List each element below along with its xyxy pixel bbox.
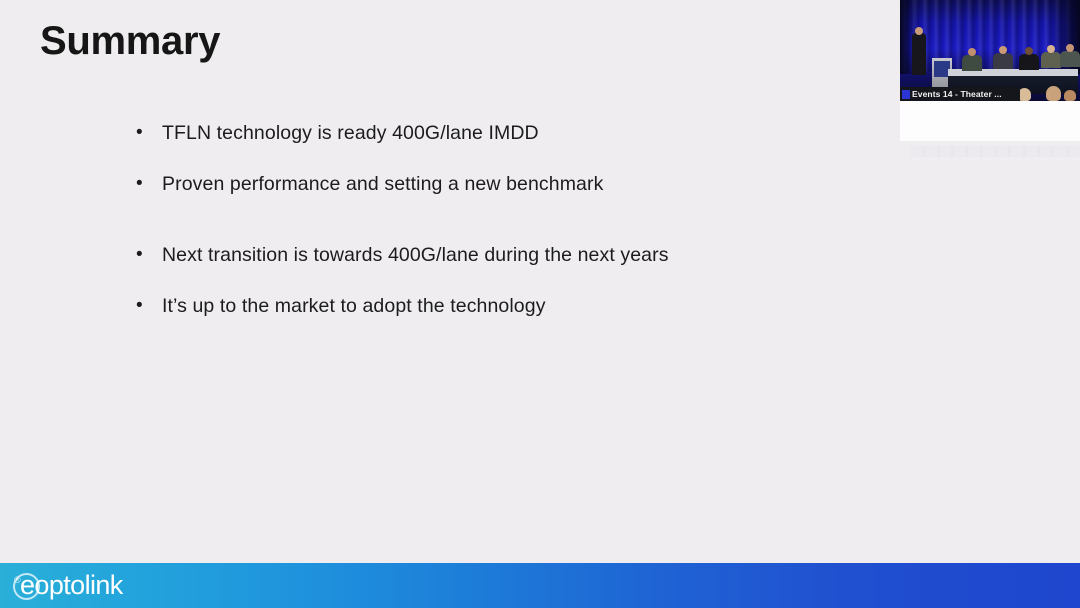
residual-cell [911,146,922,157]
video-caption-label: Events 14 - Theater ... [912,90,1002,99]
brand-logo: eoptolink ® [13,570,123,601]
overlay-residual-panel [900,101,1080,141]
list-item-label: TFLN technology is ready 400G/lane IMDD [162,121,876,145]
bullet-dot-icon: • [136,243,162,267]
audience-head [1064,90,1076,101]
list-item-label: Proven performance and setting a new ben… [162,172,876,196]
bullet-list: • TFLN technology is ready 400G/lane IMD… [136,121,876,319]
list-item: • Next transition is towards 400G/lane d… [136,243,876,267]
video-frame [900,0,1080,101]
page-title: Summary [40,19,220,63]
residual-cell [997,146,1008,157]
footer-brand-bar: eoptolink ® [0,563,1080,608]
video-caption-bar: Events 14 - Theater ... [900,87,1020,101]
residual-cell [954,146,965,157]
list-item-label: It’s up to the market to adopt the techn… [162,294,876,318]
list-item-label: Next transition is towards 400G/lane dur… [162,243,876,267]
bullet-dot-icon: • [136,172,162,196]
residual-cell [925,146,936,157]
standing-speaker-head [915,27,923,35]
brand-logo-text: eoptolink [20,570,123,601]
residual-cell [1040,146,1051,157]
residual-cell [940,146,951,157]
residual-cell [1011,146,1022,157]
bullet-dot-icon: • [136,294,162,318]
residual-cell [1069,146,1080,157]
residual-cell [1054,146,1065,157]
list-item: • TFLN technology is ready 400G/lane IMD… [136,121,876,145]
residual-cell [1026,146,1037,157]
overlay-residual-strip [911,146,1080,157]
video-overlay-thumbnail[interactable]: Events 14 - Theater ... [900,0,1080,101]
list-item: • It’s up to the market to adopt the tec… [136,294,876,318]
list-item: • Proven performance and setting a new b… [136,172,876,196]
residual-cell [968,146,979,157]
bullet-dot-icon: • [136,121,162,145]
residual-cell [983,146,994,157]
video-source-flag-icon [902,90,910,99]
standing-speaker-body [912,33,926,75]
audience-head [1046,86,1061,101]
trademark-symbol: ® [14,576,21,585]
presentation-slide: Summary • TFLN technology is ready 400G/… [0,0,1080,608]
